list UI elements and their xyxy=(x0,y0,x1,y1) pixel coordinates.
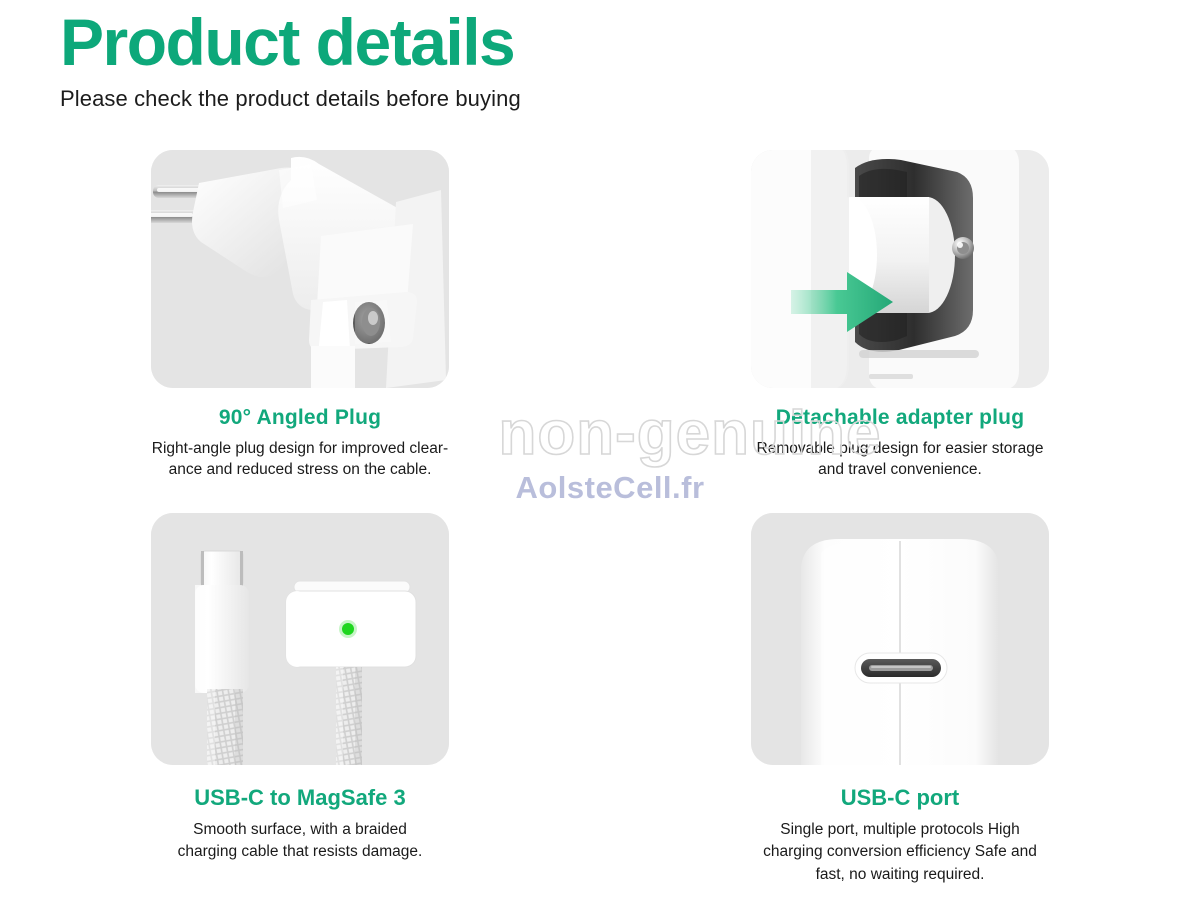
feature-image-usbc-port xyxy=(751,513,1049,765)
feature-image-detachable-plug xyxy=(751,150,1049,388)
feature-row-top: 90° Angled Plug Right-angle plug design … xyxy=(0,150,1200,481)
page-title: Product details xyxy=(60,6,521,80)
product-details-page: Product details Please check the product… xyxy=(0,0,1200,900)
feature-title-usbc-magsafe: USB-C to MagSafe 3 xyxy=(125,785,475,811)
feature-desc-angled-plug: Right-angle plug design for improved cle… xyxy=(135,438,465,481)
feature-caption-usbc-port: USB-C port Single port, multiple protoco… xyxy=(725,765,1075,886)
page-header: Product details Please check the product… xyxy=(60,6,521,112)
feature-grid: 90° Angled Plug Right-angle plug design … xyxy=(0,150,1200,886)
feature-card-angled-plug: 90° Angled Plug Right-angle plug design … xyxy=(0,150,600,481)
feature-desc-usbc-port: Single port, multiple protocols High cha… xyxy=(725,819,1075,886)
feature-card-usbc-port: USB-C port Single port, multiple protoco… xyxy=(600,513,1200,886)
feature-title-detachable-plug: Detachable adapter plug xyxy=(735,406,1065,430)
feature-desc-detachable-plug: Removable plug design for easier storage… xyxy=(735,438,1065,481)
usb-c-port-opening xyxy=(855,653,947,683)
feature-title-angled-plug: 90° Angled Plug xyxy=(135,406,465,430)
feature-desc-usbc-magsafe: Smooth surface, with a braided charging … xyxy=(125,819,475,864)
feature-image-angled-plug xyxy=(151,150,449,388)
feature-title-usbc-port: USB-C port xyxy=(725,785,1075,811)
feature-image-usbc-magsafe xyxy=(151,513,449,765)
feature-caption-usbc-magsafe: USB-C to MagSafe 3 Smooth surface, with … xyxy=(125,765,475,864)
feature-card-usbc-magsafe: USB-C to MagSafe 3 Smooth surface, with … xyxy=(0,513,600,886)
page-subtitle: Please check the product details before … xyxy=(60,86,521,112)
feature-caption-detachable-plug: Detachable adapter plug Removable plug d… xyxy=(735,388,1065,481)
feature-caption-angled-plug: 90° Angled Plug Right-angle plug design … xyxy=(135,388,465,481)
feature-row-bottom: USB-C to MagSafe 3 Smooth surface, with … xyxy=(0,513,1200,886)
feature-card-detachable-plug: Detachable adapter plug Removable plug d… xyxy=(600,150,1200,481)
